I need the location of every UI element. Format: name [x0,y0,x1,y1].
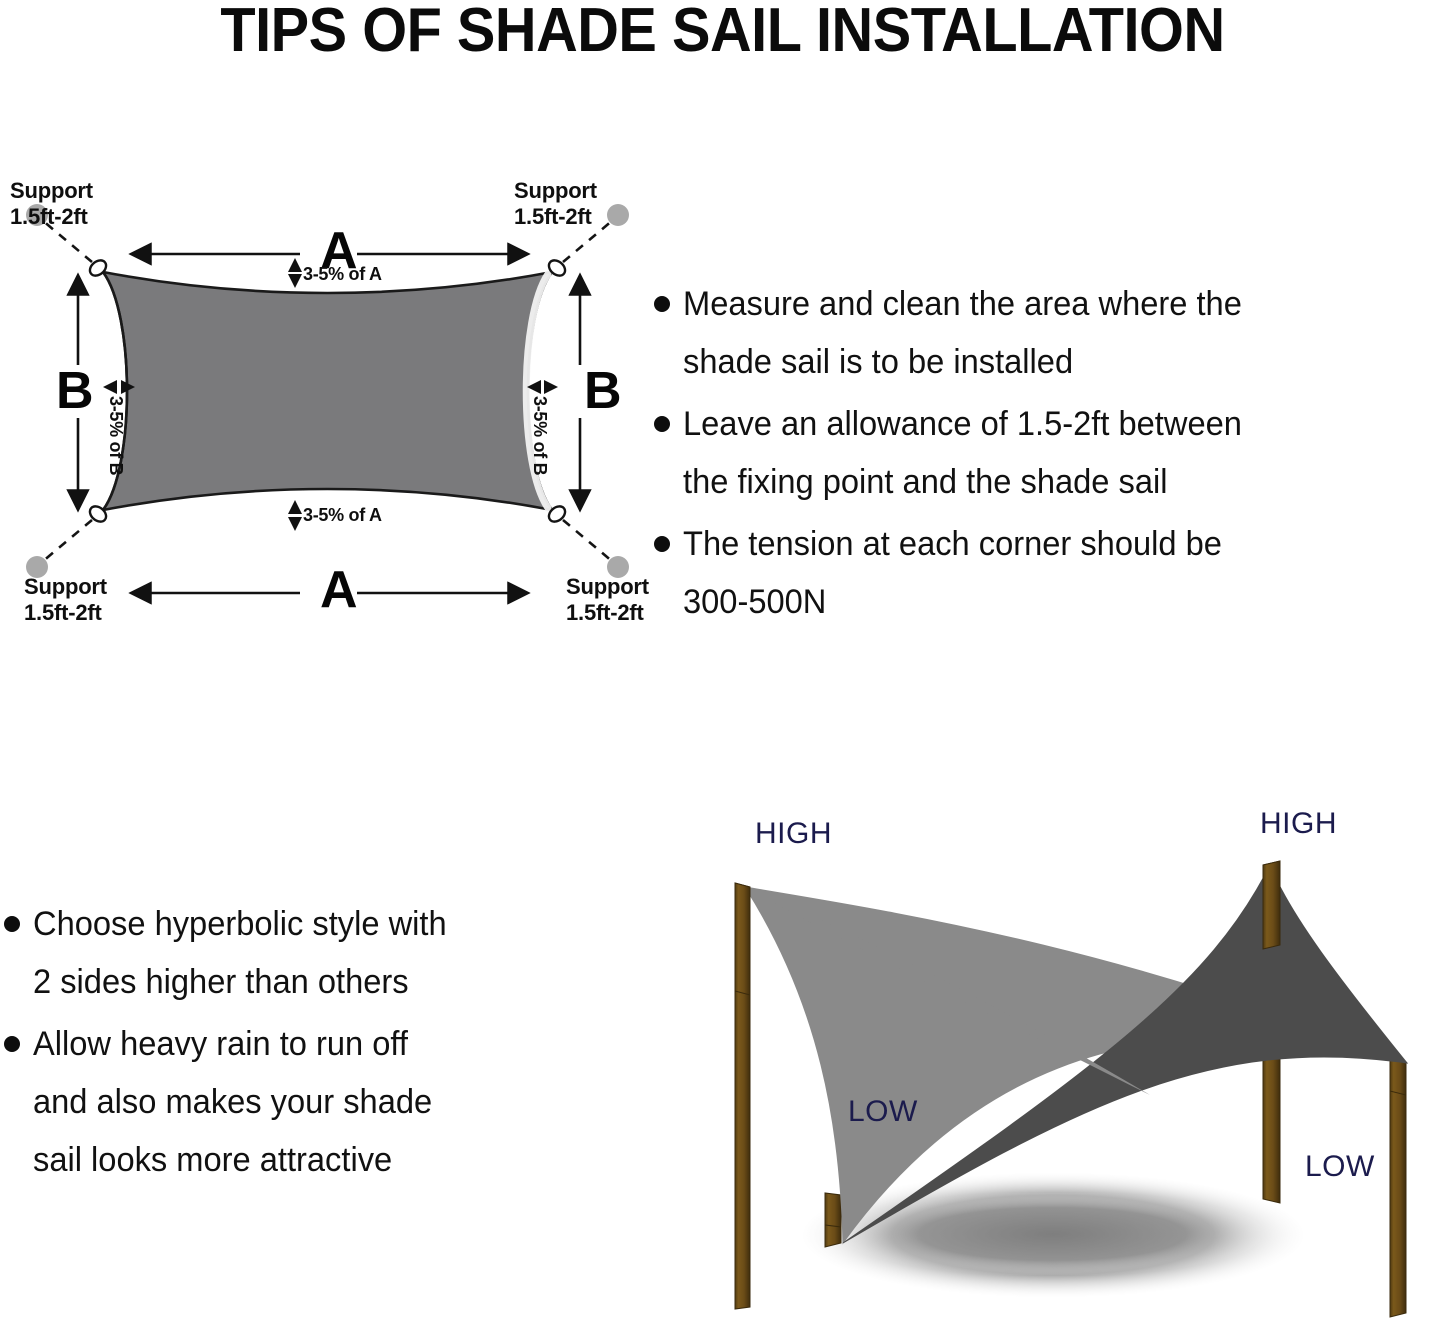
hyperbolic-shade-sail-illustration: HIGH HIGH LOW LOW [650,795,1445,1319]
list-item-line: 300-500N [683,583,826,621]
list-item-line: the fixing point and the shade sail [683,463,1168,501]
support-value-text: 1.5ft-2ft [514,204,592,229]
curve-label-left: 3-5% of B [105,396,126,475]
tether-bottom-left [42,520,92,562]
post-label-low-left: LOW [848,1095,918,1129]
support-value-text: 1.5ft-2ft [24,600,102,625]
support-label-text: Support [566,574,649,599]
installation-tips-list: Measure and clean the area where the sha… [654,275,1445,635]
post-label-high-right: HIGH [1260,807,1337,841]
support-label-top-left: Support 1.5ft-2ft [10,178,93,230]
list-item-line: Measure and clean the area where the [683,285,1242,323]
infographic-page: TIPS OF SHADE SAIL INSTALLATION [0,0,1445,1319]
support-label-top-right: Support 1.5ft-2ft [514,178,597,230]
support-label-bottom-right: Support 1.5ft-2ft [566,574,649,626]
support-label-text: Support [24,574,107,599]
support-label-text: Support [514,178,597,203]
dimension-letter-b-left: B [56,365,94,417]
list-item-line: The tension at each corner should be [683,525,1222,563]
list-item: Choose hyperbolic style with 2 sides hig… [4,895,630,1011]
list-item-text: Leave an allowance of 1.5-2ft between th… [683,395,1242,511]
list-item-line: 2 sides higher than others [33,963,409,1001]
sail-shape [103,272,552,510]
curve-label-right: 3-5% of B [529,396,550,475]
post-front-right-top [1390,1091,1406,1317]
list-item-line: Choose hyperbolic style with [33,905,447,943]
curve-label-bottom: 3-5% of A [303,505,382,526]
list-item-line: Allow heavy rain to run off [33,1025,408,1063]
bullet-dot-icon [4,1036,20,1052]
support-dot-top-right [607,204,629,226]
support-label-text: Support [10,178,93,203]
support-value-text: 1.5ft-2ft [566,600,644,625]
post-back-right-top [1263,861,1280,949]
bullet-dot-icon [654,296,670,312]
curve-label-top: 3-5% of A [303,264,382,285]
post-front-left-top [825,1225,841,1247]
list-item-text: Allow heavy rain to run off and also mak… [33,1015,432,1189]
bullet-dot-icon [4,916,20,932]
list-item-text: Choose hyperbolic style with 2 sides hig… [33,895,447,1011]
list-item: Leave an allowance of 1.5-2ft between th… [654,395,1445,511]
post-back-left-top [735,883,750,995]
list-item-text: Measure and clean the area where the sha… [683,275,1242,391]
list-item-line: Leave an allowance of 1.5-2ft between [683,405,1242,443]
dimension-letter-a-bottom: A [320,564,358,616]
list-item: The tension at each corner should be 300… [654,515,1445,631]
support-value-text: 1.5ft-2ft [10,204,88,229]
tether-bottom-right [563,520,613,562]
rectangular-shade-sail-dimension-diagram: Support 1.5ft-2ft Support 1.5ft-2ft Supp… [0,160,650,720]
list-item-line: shade sail is to be installed [683,343,1073,381]
hyperbolic-style-tips-list: Choose hyperbolic style with 2 sides hig… [4,895,630,1193]
list-item-line: sail looks more attractive [33,1141,392,1179]
support-label-bottom-left: Support 1.5ft-2ft [24,574,107,626]
bullet-dot-icon [654,416,670,432]
list-item-line: and also makes your shade [33,1083,432,1121]
page-title: TIPS OF SHADE SAIL INSTALLATION [51,0,1395,64]
list-item: Allow heavy rain to run off and also mak… [4,1015,630,1189]
list-item: Measure and clean the area where the sha… [654,275,1445,391]
bullet-dot-icon [654,536,670,552]
dimension-letter-b-right: B [584,365,622,417]
post-label-high-left: HIGH [755,817,832,851]
post-label-low-right: LOW [1305,1150,1375,1184]
list-item-text: The tension at each corner should be 300… [683,515,1222,631]
